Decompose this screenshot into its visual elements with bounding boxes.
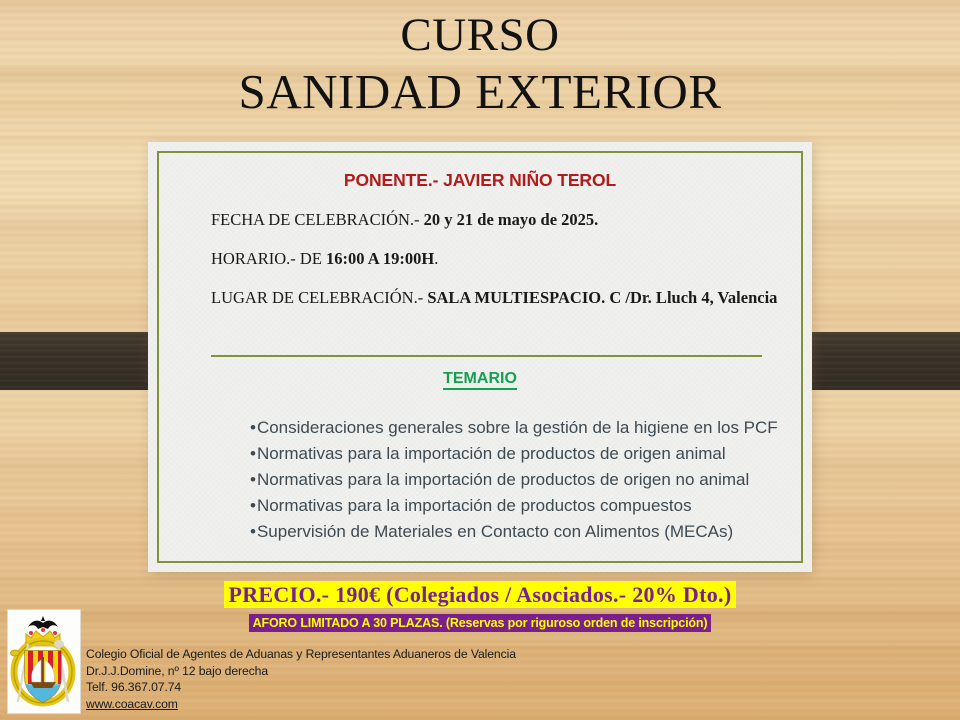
detail-row-horario: HORARIO.- DE 16:00 A 19:00H. bbox=[211, 249, 782, 269]
detail-value-lugar: SALA MULTIESPACIO. C /Dr. Lluch 4, Valen… bbox=[427, 288, 777, 307]
title-line-1: CURSO bbox=[0, 8, 960, 63]
detail-value-fecha: 20 y 21 de mayo de 2025. bbox=[424, 210, 599, 229]
detail-row-fecha: FECHA DE CELEBRACIÓN.- 20 y 21 de mayo d… bbox=[211, 210, 782, 230]
syllabus-list: Consideraciones generales sobre la gesti… bbox=[210, 415, 792, 545]
capacity-text: AFORO LIMITADO A 30 PLAZAS. (Reservas po… bbox=[249, 614, 712, 632]
detail-label-lugar: LUGAR DE CELEBRACIÓN.- bbox=[211, 288, 423, 307]
detail-row-lugar: LUGAR DE CELEBRACIÓN.- SALA MULTIESPACIO… bbox=[211, 288, 782, 308]
footer-website-link[interactable]: www.coacav.com bbox=[86, 696, 516, 713]
title-line-2: SANIDAD EXTERIOR bbox=[0, 63, 960, 120]
coat-of-arms-icon bbox=[8, 610, 78, 711]
ribbon-band-right bbox=[786, 332, 960, 390]
footer-phone: Telf. 96.367.07.74 bbox=[86, 679, 516, 696]
footer-address: Dr.J.J.Domine, nº 12 bajo derecha bbox=[86, 663, 516, 680]
syllabus-heading: TEMARIO bbox=[148, 370, 812, 388]
organization-logo bbox=[7, 609, 81, 714]
list-item: Normativas para la importación de produc… bbox=[250, 441, 792, 467]
list-item: Consideraciones generales sobre la gesti… bbox=[250, 415, 792, 441]
poster-canvas: CURSO SANIDAD EXTERIOR PONENTE.- JAVIER … bbox=[0, 0, 960, 720]
ribbon-band-left bbox=[0, 332, 166, 390]
capacity-notice: AFORO LIMITADO A 30 PLAZAS. (Reservas po… bbox=[0, 614, 960, 632]
footer-org-name: Colegio Oficial de Agentes de Aduanas y … bbox=[86, 646, 516, 663]
event-details: FECHA DE CELEBRACIÓN.- 20 y 21 de mayo d… bbox=[211, 210, 782, 308]
list-item: Supervisión de Materiales en Contacto co… bbox=[250, 519, 792, 545]
footer-contact: Colegio Oficial de Agentes de Aduanas y … bbox=[86, 646, 516, 712]
list-item: Normativas para la importación de produc… bbox=[250, 467, 792, 493]
page-title: CURSO SANIDAD EXTERIOR bbox=[0, 8, 960, 120]
section-divider bbox=[211, 355, 762, 357]
detail-suffix-horario: . bbox=[434, 249, 438, 268]
detail-value-horario: 16:00 A 19:00H bbox=[326, 249, 434, 268]
detail-label-fecha: FECHA DE CELEBRACIÓN.- bbox=[211, 210, 420, 229]
speaker-heading: PONENTE.- JAVIER NIÑO TEROL bbox=[148, 170, 812, 191]
content-panel: PONENTE.- JAVIER NIÑO TEROL FECHA DE CEL… bbox=[148, 142, 812, 572]
price-line: PRECIO.- 190€ (Colegiados / Asociados.- … bbox=[0, 582, 960, 608]
list-item: Normativas para la importación de produc… bbox=[250, 493, 792, 519]
detail-label-horario: HORARIO.- DE bbox=[211, 249, 322, 268]
price-text: PRECIO.- 190€ (Colegiados / Asociados.- … bbox=[224, 581, 737, 608]
syllabus-heading-text: TEMARIO bbox=[443, 370, 517, 390]
